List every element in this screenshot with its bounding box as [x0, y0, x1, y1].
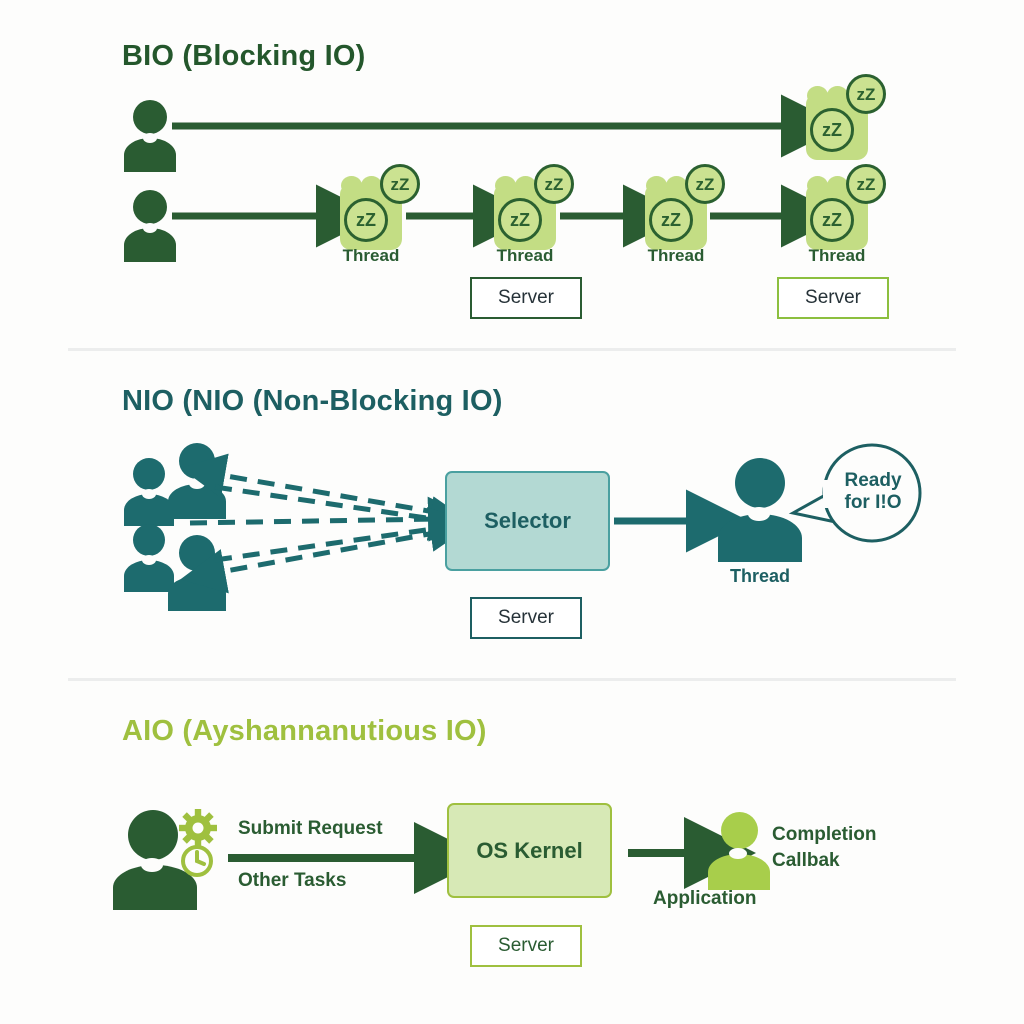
- diagram-canvas: BIO (Blocking IO): [0, 0, 1024, 1024]
- aio-server-box[interactable]: Server: [470, 925, 582, 967]
- aio-callback-text: Completion Callbak: [772, 822, 952, 874]
- aio-arrow-label-below: Other Tasks: [238, 870, 346, 892]
- aio-application-label: Application: [653, 888, 756, 910]
- aio-kernel-label: OS Kernel: [476, 838, 582, 864]
- callback-line-2: Callbak: [772, 848, 952, 874]
- aio-server-label: Server: [498, 935, 554, 957]
- callback-line-1: Completion: [772, 822, 952, 848]
- aio-arrow-label-above: Submit Request: [238, 818, 383, 840]
- aio-callback-person: [708, 812, 770, 890]
- aio-kernel-box[interactable]: OS Kernel: [447, 803, 612, 898]
